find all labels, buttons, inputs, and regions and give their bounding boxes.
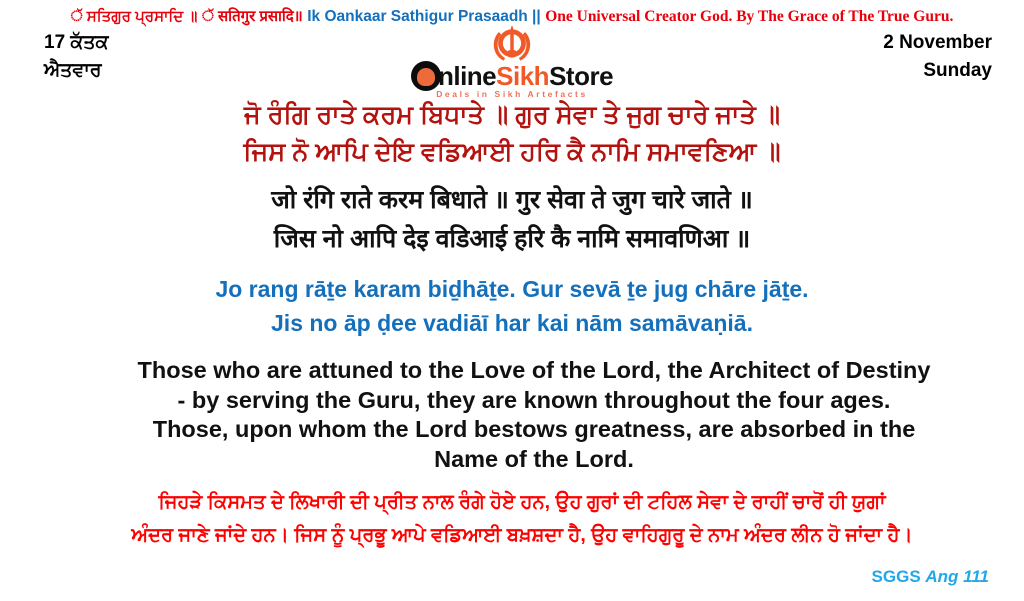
punjabi-line-1: ਜਿਹੜੇ ਕਿਸਮਤ ਦੇ ਲਿਖਾਰੀ ਦੀ ਪ੍ਰੀਤ ਨਾਲ ਰੰਗੇ … (10, 486, 1024, 519)
english-line-4: Name of the Lord. (22, 445, 1024, 475)
source-name: SGGS (872, 567, 921, 586)
nanakshahi-day: ਐਤਵਾਰ (44, 57, 109, 85)
mool-mantar-gurmukhi: ਍ੱ ਸਤਿਗੁਰ ਪ੍ਰਸਾਦਿ ॥ (71, 8, 198, 25)
mool-mantar-devanagari: ਍ੱ सतिगुर प्रसादि॥ (202, 8, 303, 25)
nanakshahi-date-block: 17 ਕੱਤਕ ਐਤਵਾਰ (44, 29, 109, 85)
logo-tagline: Deals in Sikh Artefacts (362, 89, 662, 99)
nanakshahi-date: 17 ਕੱਤਕ (44, 29, 109, 57)
date-and-logo-bar: 17 ਕੱਤਕ ਐਤਵਾਰ nline (0, 29, 1024, 91)
english-line-1: Those who are attuned to the Love of the… (22, 356, 1024, 386)
punjabi-translation-block: ਜਿਹੜੇ ਕਿਸਮਤ ਦੇ ਲਿਖਾਰੀ ਦੀ ਪ੍ਰੀਤ ਨਾਲ ਰੰਗੇ … (0, 486, 1024, 552)
english-line-3: Those, upon whom the Lord bestows greatn… (22, 415, 1024, 445)
mool-mantar-english: One Universal Creator God. By The Grace … (545, 8, 953, 25)
transliteration-line-1: Jo rang rāṯe karam biḏhāṯe. Gur sevā ṯe … (0, 272, 1024, 306)
english-translation-block: Those who are attuned to the Love of the… (0, 356, 1024, 474)
logo-wordmark: nline Sikh Store (362, 61, 662, 91)
gregorian-date: 2 November (883, 29, 992, 57)
punjabi-line-2: ਅੰਦਰ ਜਾਣੇ ਜਾਂਦੇ ਹਨ। ਜਿਸ ਨੂੰ ਪ੍ਰਭੂ ਆਪੇ ਵਡ… (10, 519, 1024, 552)
source-citation: SGGS Ang 111 (872, 567, 989, 587)
devanagari-line-1: जो रंगि राते करम बिधाते ॥ गुर सेवा ते जु… (0, 181, 1024, 220)
gregorian-day: Sunday (883, 57, 992, 85)
devanagari-line-2: जिस नो आपि देइ वडिआई हरि कै नामि समावणिआ… (0, 220, 1024, 259)
site-logo[interactable]: nline Sikh Store Deals in Sikh Artefacts (362, 25, 662, 101)
khanda-icon (490, 25, 534, 65)
gurmukhi-line-2: ਜਿਸ ਨੋ ਆਪਿ ਦੇਇ ਵਡਿਆਈ ਹਰਿ ਕੈ ਨਾਮਿ ਸਮਾਵਣਿਆ… (0, 134, 1024, 171)
logo-word-online: nline (438, 63, 496, 89)
shabad-page: ਍ੱ ਸਤਿਗੁਰ ਪ੍ਰਸਾਦਿ ॥ ਍ੱ सतिगुर प्रसादि॥ I… (0, 0, 1024, 601)
gurmukhi-line-1: ਜੋ ਰੰਗਿ ਰਾਤੇ ਕਰਮ ਬਿਧਾਤੇ ॥ ਗੁਰ ਸੇਵਾ ਤੇ ਜੁ… (0, 97, 1024, 134)
source-ang: Ang 111 (925, 567, 989, 586)
logo-o-mark (411, 61, 441, 91)
gregorian-date-block: 2 November Sunday (883, 29, 992, 85)
mool-mantar-transliteration: Ik Oankaar Sathigur Prasaadh || (307, 8, 541, 25)
logo-word-store: Store (549, 63, 613, 89)
gurmukhi-verse-block: ਜੋ ਰੰਗਿ ਰਾਤੇ ਕਰਮ ਬਿਧਾਤੇ ॥ ਗੁਰ ਸੇਵਾ ਤੇ ਜੁ… (0, 97, 1024, 171)
transliteration-line-2: Jis no āp ḍee vadiāī har kai nām samāvaṇ… (0, 306, 1024, 340)
transliteration-block: Jo rang rāṯe karam biḏhāṯe. Gur sevā ṯe … (0, 272, 1024, 340)
mool-mantar-header: ਍ੱ ਸਤਿਗੁਰ ਪ੍ਰਸਾਦਿ ॥ ਍ੱ सतिगुर प्रसादि॥ I… (0, 0, 1024, 25)
english-line-2: - by serving the Guru, they are known th… (22, 386, 1024, 416)
devanagari-verse-block: जो रंगि राते करम बिधाते ॥ गुर सेवा ते जु… (0, 181, 1024, 259)
logo-word-sikh: Sikh (496, 63, 549, 89)
